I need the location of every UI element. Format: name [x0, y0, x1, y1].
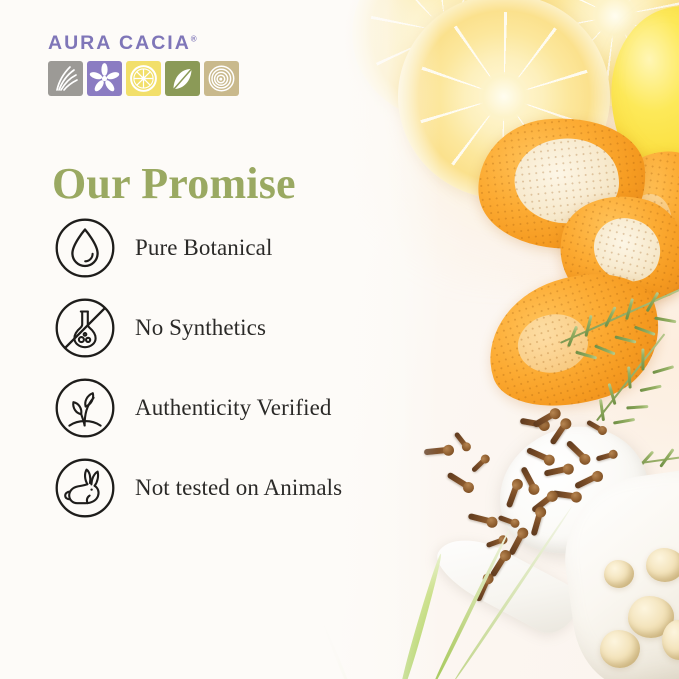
citrus-tile: [126, 61, 161, 96]
promise-label: Pure Botanical: [135, 235, 272, 261]
leaf-tile: [165, 61, 200, 96]
page-title: Our Promise: [52, 160, 296, 208]
promise-label: Authenticity Verified: [135, 395, 332, 421]
promise-label: Not tested on Animals: [135, 475, 342, 501]
promise-item: Authenticity Verified: [54, 368, 474, 448]
droplet-icon: [54, 217, 116, 279]
promise-item: Not tested on Animals: [54, 448, 474, 528]
promise-item: Pure Botanical: [54, 208, 474, 288]
grass-tile: [48, 61, 83, 96]
logo-tile-row: [48, 61, 239, 96]
sprout-icon: [54, 377, 116, 439]
brand-name: AURA CACIA: [48, 32, 191, 54]
no-flask-icon: [54, 297, 116, 359]
promise-list: Pure Botanical: [54, 208, 474, 528]
rabbit-icon: [54, 457, 116, 519]
promise-graphic: AURA CACIA®: [0, 0, 679, 679]
aura-cacia-logo: AURA CACIA®: [48, 34, 239, 96]
promise-label: No Synthetics: [135, 315, 266, 341]
promise-item: No Synthetics: [54, 288, 474, 368]
brand-wordmark: AURA CACIA®: [48, 34, 239, 54]
wood-rings-tile: [204, 61, 239, 96]
flower-tile: [87, 61, 122, 96]
registered-mark: ®: [191, 35, 197, 44]
